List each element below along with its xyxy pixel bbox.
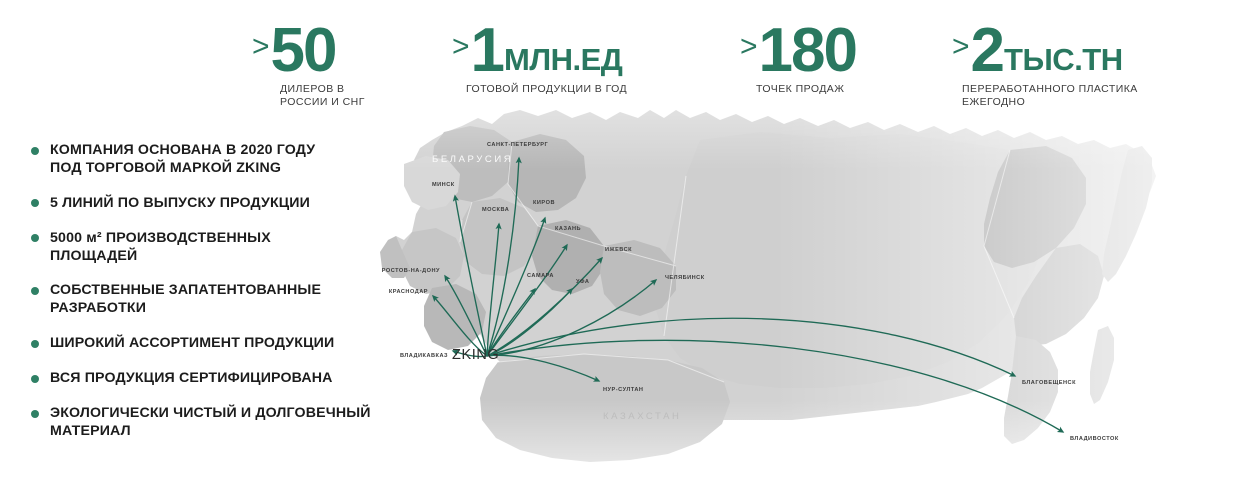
stat-dealers-value: 50	[271, 22, 336, 79]
feature-bullet-text: КОМПАНИЯ ОСНОВАНА В 2020 ГОДУ ПОД ТОРГОВ…	[50, 142, 315, 176]
map-city-label: МИНСК	[432, 183, 455, 189]
hub-label-zking: ZKING	[452, 347, 499, 363]
bullet-dot-icon	[31, 199, 39, 207]
bullet-dot-icon	[31, 287, 39, 295]
feature-bullet: 5 ЛИНИЙ ПО ВЫПУСКУ ПРОДУКЦИИ	[30, 195, 405, 213]
map-city-label: КИРОВ	[533, 201, 555, 207]
stat-plastic-value: 2	[971, 22, 1003, 79]
stat-plastic-unit: ТЫС.ТН	[1004, 44, 1123, 75]
map-city-label: САНКТ-ПЕТЕРБУРГ	[487, 143, 548, 149]
stat-points-caption: ТОЧЕК ПРОДАЖ	[756, 83, 857, 96]
bullet-dot-icon	[31, 410, 39, 418]
stat-units-value: 1	[471, 22, 503, 79]
greater-than-icon: >	[952, 32, 969, 62]
feature-bullet: ЭКОЛОГИЧЕСКИ ЧИСТЫЙ И ДОЛГОВЕЧНЫЙ МАТЕРИ…	[30, 405, 405, 441]
stat-units-number-row: > 1 МЛН.ЕД	[452, 22, 627, 79]
map-country-label: КАЗАХСТАН	[603, 412, 682, 422]
stat-points: > 180 ТОЧЕК ПРОДАЖ	[740, 22, 857, 96]
stat-units-unit: МЛН.ЕД	[504, 44, 622, 75]
map-city-label: БЛАГОВЕЩЕНСК	[1022, 381, 1076, 387]
feature-bullet: 5000 м² ПРОИЗВОДСТВЕННЫХ ПЛОЩАДЕЙ	[30, 230, 405, 266]
map-city-label: УФА	[576, 280, 589, 286]
map-city-label: КАЗАНЬ	[555, 227, 581, 233]
stat-points-value: 180	[759, 22, 856, 79]
stat-dealers: > 50 ДИЛЕРОВ В РОССИИ И СНГ	[252, 22, 365, 110]
feature-bullet-text: ЭКОЛОГИЧЕСКИ ЧИСТЫЙ И ДОЛГОВЕЧНЫЙ МАТЕРИ…	[50, 405, 371, 439]
feature-bullet-text: 5 ЛИНИЙ ПО ВЫПУСКУ ПРОДУКЦИИ	[50, 195, 310, 211]
feature-bullet-text: ВСЯ ПРОДУКЦИЯ СЕРТИФИЦИРОВАНА	[50, 370, 333, 386]
map-country-label: БЕЛАРУСИЯ	[432, 155, 513, 165]
stat-plastic: > 2 ТЫС.ТН ПЕРЕРАБОТАННОГО ПЛАСТИКА ЕЖЕГ…	[952, 22, 1138, 110]
feature-bullet: СОБСТВЕННЫЕ ЗАПАТЕНТОВАННЫЕ РАЗРАБОТКИ	[30, 282, 405, 318]
map-city-label: ВЛАДИКАВКАЗ	[400, 354, 448, 360]
stat-units: > 1 МЛН.ЕД ГОТОВОЙ ПРОДУКЦИИ В ГОД	[452, 22, 627, 96]
feature-bullet-list: КОМПАНИЯ ОСНОВАНА В 2020 ГОДУ ПОД ТОРГОВ…	[30, 142, 405, 458]
feature-bullet-text: СОБСТВЕННЫЕ ЗАПАТЕНТОВАННЫЕ РАЗРАБОТКИ	[50, 282, 321, 316]
map-city-label: НУР-СУЛТАН	[603, 388, 643, 394]
feature-bullet-text: 5000 м² ПРОИЗВОДСТВЕННЫХ ПЛОЩАДЕЙ	[50, 230, 271, 264]
stats-header: > 50 ДИЛЕРОВ В РОССИИ И СНГ > 1 МЛН.ЕД Г…	[0, 0, 1250, 115]
greater-than-icon: >	[740, 32, 757, 62]
feature-bullet-text: ШИРОКИЙ АССОРТИМЕНТ ПРОДУКЦИИ	[50, 335, 334, 351]
map-city-label: МОСКВА	[482, 208, 509, 214]
map-city-label: ЧЕЛЯБИНСК	[665, 276, 705, 282]
greater-than-icon: >	[252, 32, 269, 62]
stat-dealers-caption: ДИЛЕРОВ В РОССИИ И СНГ	[280, 83, 365, 110]
infographic-root: САНКТ-ПЕТЕРБУРГМИНСКМОСКВАКИРОВКАЗАНЬИЖЕ…	[0, 0, 1250, 500]
feature-bullet: КОМПАНИЯ ОСНОВАНА В 2020 ГОДУ ПОД ТОРГОВ…	[30, 142, 405, 178]
map-city-label: ВЛАДИВОСТОК	[1070, 437, 1119, 443]
stat-dealers-number-row: > 50	[252, 22, 365, 79]
bullet-dot-icon	[31, 340, 39, 348]
stat-points-number-row: > 180	[740, 22, 857, 79]
map-city-label: САМАРА	[527, 274, 554, 280]
greater-than-icon: >	[452, 32, 469, 62]
feature-bullet: ШИРОКИЙ АССОРТИМЕНТ ПРОДУКЦИИ	[30, 335, 405, 353]
stat-plastic-caption: ПЕРЕРАБОТАННОГО ПЛАСТИКА ЕЖЕГОДНО	[962, 83, 1138, 110]
stat-units-caption: ГОТОВОЙ ПРОДУКЦИИ В ГОД	[466, 83, 627, 96]
bullet-dot-icon	[31, 147, 39, 155]
map-city-label: ИЖЕВСК	[605, 248, 632, 254]
bullet-dot-icon	[31, 375, 39, 383]
bullet-dot-icon	[31, 234, 39, 242]
stat-plastic-number-row: > 2 ТЫС.ТН	[952, 22, 1138, 79]
feature-bullet: ВСЯ ПРОДУКЦИЯ СЕРТИФИЦИРОВАНА	[30, 370, 405, 388]
